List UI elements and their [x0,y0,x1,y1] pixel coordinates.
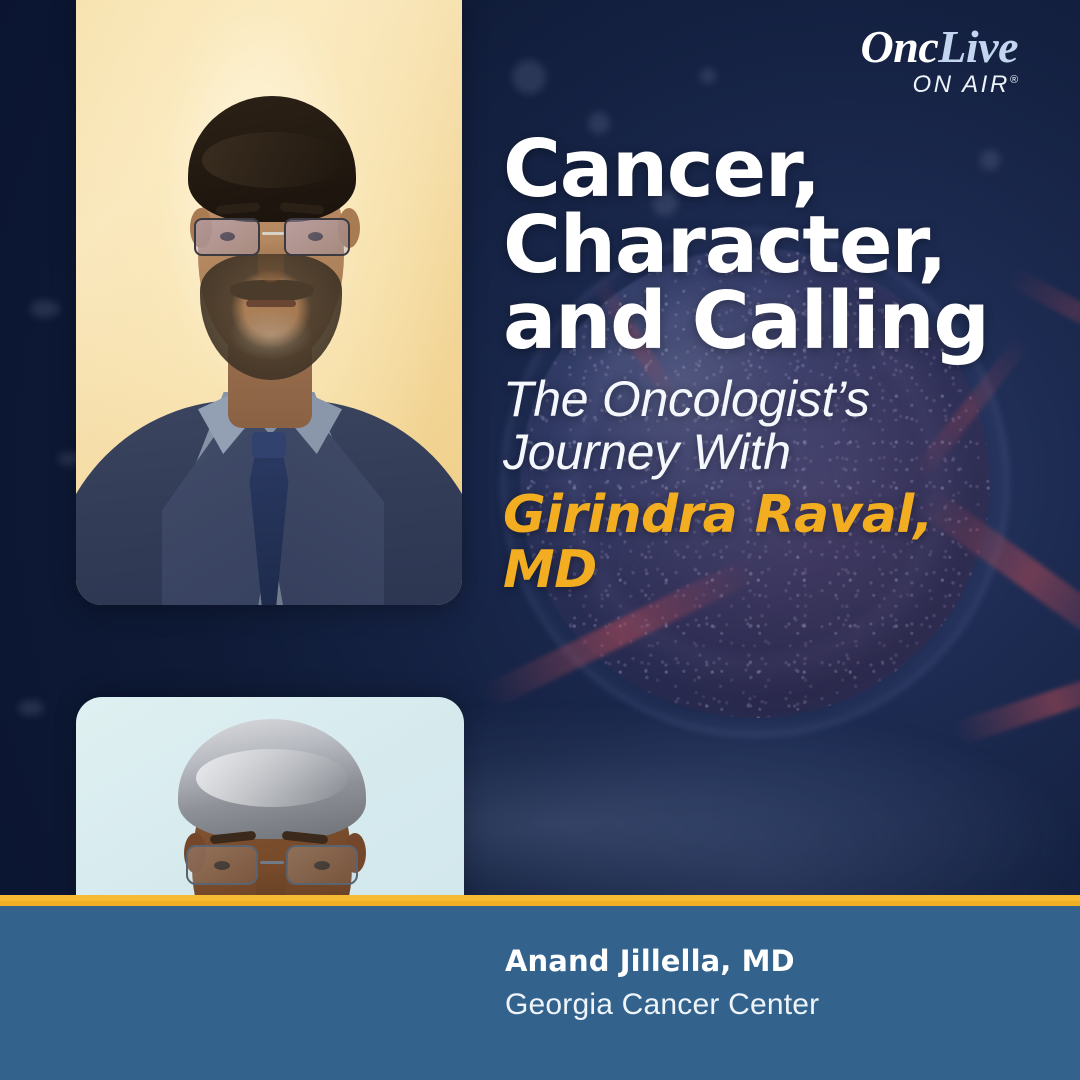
footer-person-name: Anand Jillella, MD [505,944,1025,978]
page-title: Cancer, Character, and Calling [503,132,1043,359]
registered-trademark-icon: ® [1010,74,1018,86]
bokeh-speck [18,700,44,716]
logo-onc-text: Onc [861,21,939,72]
onclive-on-air-logo[interactable]: OncLive ON AIR® [861,24,1018,99]
logo-live-text: Live [938,21,1018,72]
title-line-1: Cancer, [503,132,1043,208]
footer-credits: Anand Jillella, MD Georgia Cancer Center [505,944,1025,1022]
promo-graphic: OncLive ON AIR® Cancer, Character, and C… [0,0,1080,1080]
eyeglasses-icon [184,843,360,889]
logo-on-air-text: ON AIR [913,71,1010,98]
eyeglasses-icon [192,216,352,260]
bokeh-speck [700,68,716,84]
gold-divider [0,895,1080,906]
guest-name: Girindra Raval, MD [503,488,1043,596]
onclive-wordmark: OncLive [861,24,1018,70]
bokeh-speck [512,60,546,94]
page-subtitle: The Oncologist’s Journey With [503,373,1043,479]
portrait-photo-girindra-raval [76,0,462,605]
footer-organization: Georgia Cancer Center [505,988,1025,1022]
logo-on-air-tagline: ON AIR® [861,71,1018,99]
portrait-card-top [76,0,462,605]
background-haze [440,700,1080,900]
bokeh-speck [30,300,60,318]
title-block: Cancer, Character, and Calling The Oncol… [503,132,1043,597]
title-line-2: Character, [503,208,1043,284]
title-line-3: and Calling [503,284,1043,360]
subtitle-line-1: The Oncologist’s [503,373,1043,426]
subtitle-line-2: Journey With [503,426,1043,479]
